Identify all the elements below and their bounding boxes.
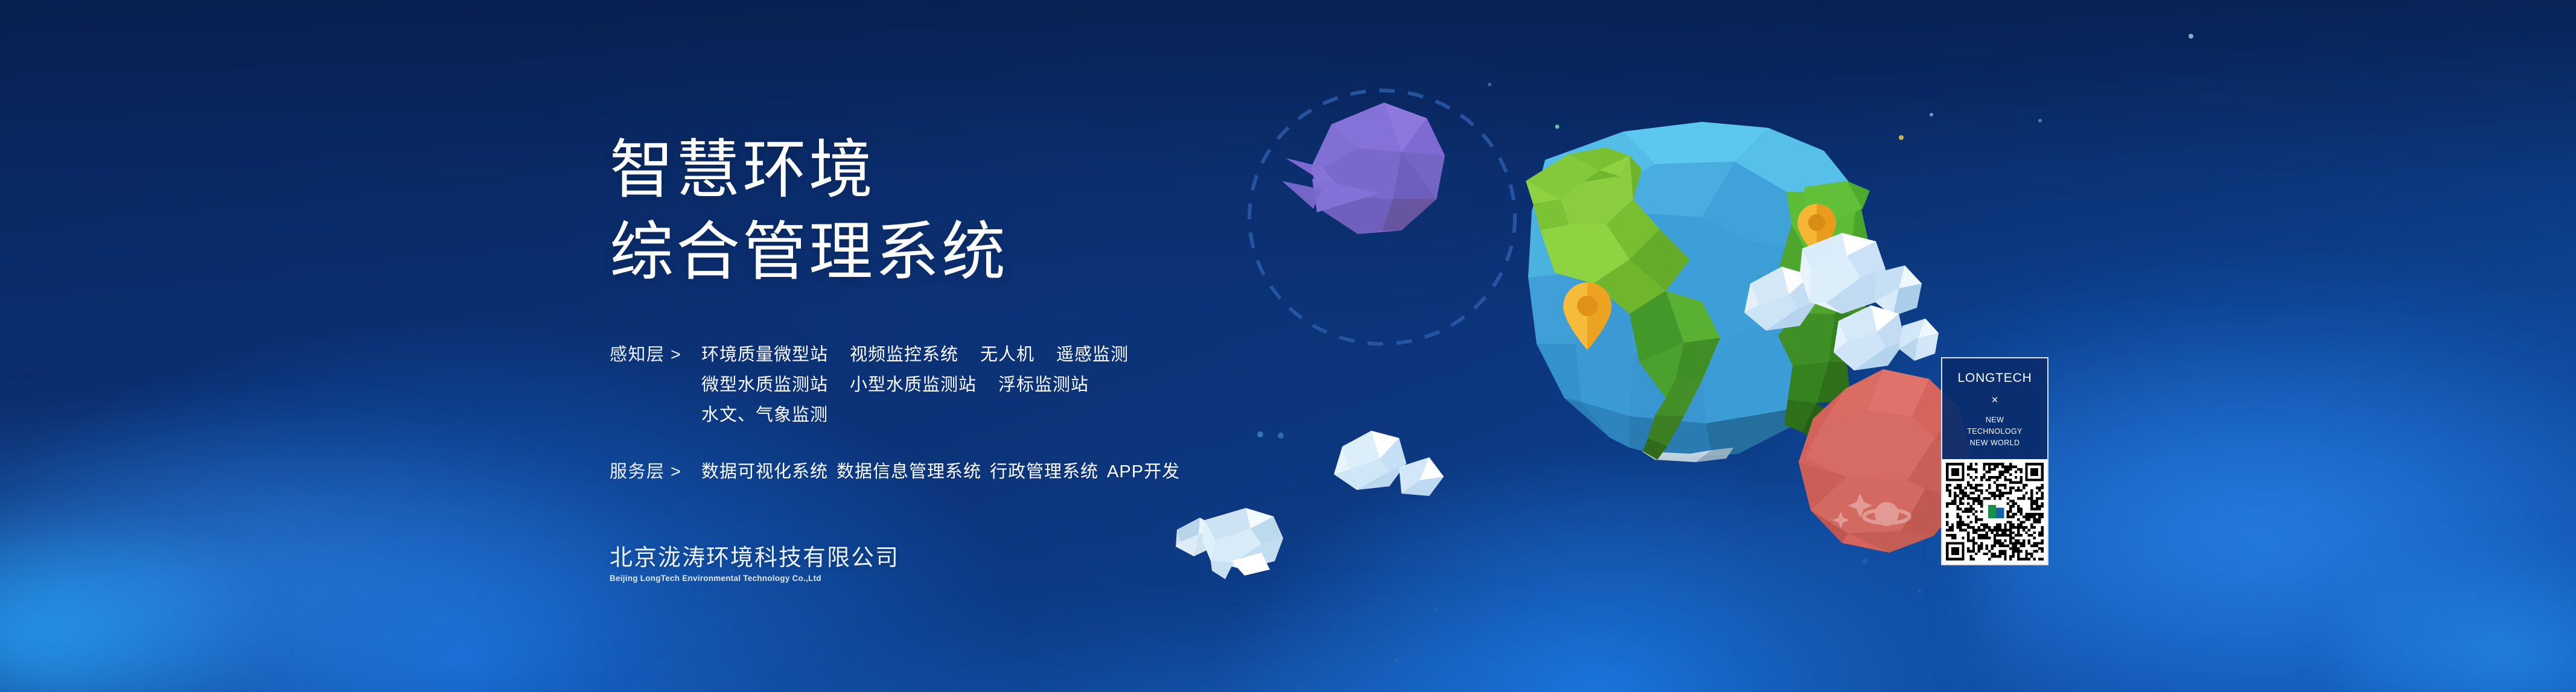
layer-item[interactable]: APP开发 [1107,457,1180,487]
layer-row-perception: 感知层 > 环境质量微型站 视频监控系统 无人机 遥感监测 微型水质监测站 小型… [610,340,1364,431]
headline-line-1: 智慧环境 [610,135,875,206]
layer-item[interactable]: 遥感监测 [1056,340,1129,370]
qr-card-tagline: NEW TECHNOLOGY NEW WORLD [1947,414,2042,448]
layer-line: 环境质量微型站 视频监控系统 无人机 遥感监测 [701,340,1129,370]
hero-banner: 智慧环境 综合管理系统 感知层 > 环境质量微型站 视频监控系统 无人机 遥感监… [0,0,2576,692]
qr-card[interactable]: LONGTECH × NEW TECHNOLOGY NEW WORLD [1941,357,2048,565]
layer-row-service: 服务层 > 数据可视化系统 数据信息管理系统 行政管理系统 APP开发 [610,457,1364,487]
hero-copy: 智慧环境 综合管理系统 感知层 > 环境质量微型站 视频监控系统 无人机 遥感监… [610,130,1364,514]
layer-list: 感知层 > 环境质量微型站 视频监控系统 无人机 遥感监测 微型水质监测站 小型… [610,340,1364,487]
tagline-line-2: TECHNOLOGY [1947,426,2042,437]
brand-name: LONGTECH [1947,372,2042,384]
layer-item[interactable]: 无人机 [980,340,1035,370]
layer-line: 水文、气象监测 [701,401,1129,431]
company-block: 北京泷涛环境科技有限公司 Beijing LongTech Environmen… [610,544,899,583]
company-name-en: Beijing LongTech Environmental Technolog… [610,574,899,583]
qr-code-wrapper[interactable] [1942,459,2047,564]
layer-items-perception: 环境质量微型站 视频监控系统 无人机 遥感监测 微型水质监测站 小型水质监测站 … [701,340,1129,431]
layer-item[interactable]: 数据可视化系统 [701,457,828,487]
layer-item[interactable]: 行政管理系统 [990,457,1098,487]
layer-line: 微型水质监测站 小型水质监测站 浮标监测站 [701,370,1129,401]
layer-item[interactable]: 微型水质监测站 [701,370,828,401]
tagline-line-1: NEW [1947,414,2042,426]
layer-item[interactable]: 浮标监测站 [998,370,1089,401]
cross-icon: × [1947,395,2042,406]
layer-item[interactable]: 环境质量微型站 [701,340,828,370]
qr-card-header: LONGTECH × NEW TECHNOLOGY NEW WORLD [1942,358,2047,459]
layer-items-service: 数据可视化系统 数据信息管理系统 行政管理系统 APP开发 [701,457,1188,487]
layer-item[interactable]: 小型水质监测站 [850,370,977,401]
company-name-cn: 北京泷涛环境科技有限公司 [610,544,899,572]
layer-label-service: 服务层 > [610,457,701,487]
layer-item[interactable]: 视频监控系统 [850,340,958,370]
layer-label-perception: 感知层 > [610,340,701,370]
layer-item[interactable]: 水文、气象监测 [701,401,828,431]
qr-code-icon[interactable] [1946,463,2044,560]
tagline-line-3: NEW WORLD [1947,437,2042,449]
layer-line: 数据可视化系统 数据信息管理系统 行政管理系统 APP开发 [701,457,1188,487]
layer-item[interactable]: 数据信息管理系统 [837,457,981,487]
headline-line-2: 综合管理系统 [610,212,1364,294]
page-title: 智慧环境 综合管理系统 [610,130,1364,293]
